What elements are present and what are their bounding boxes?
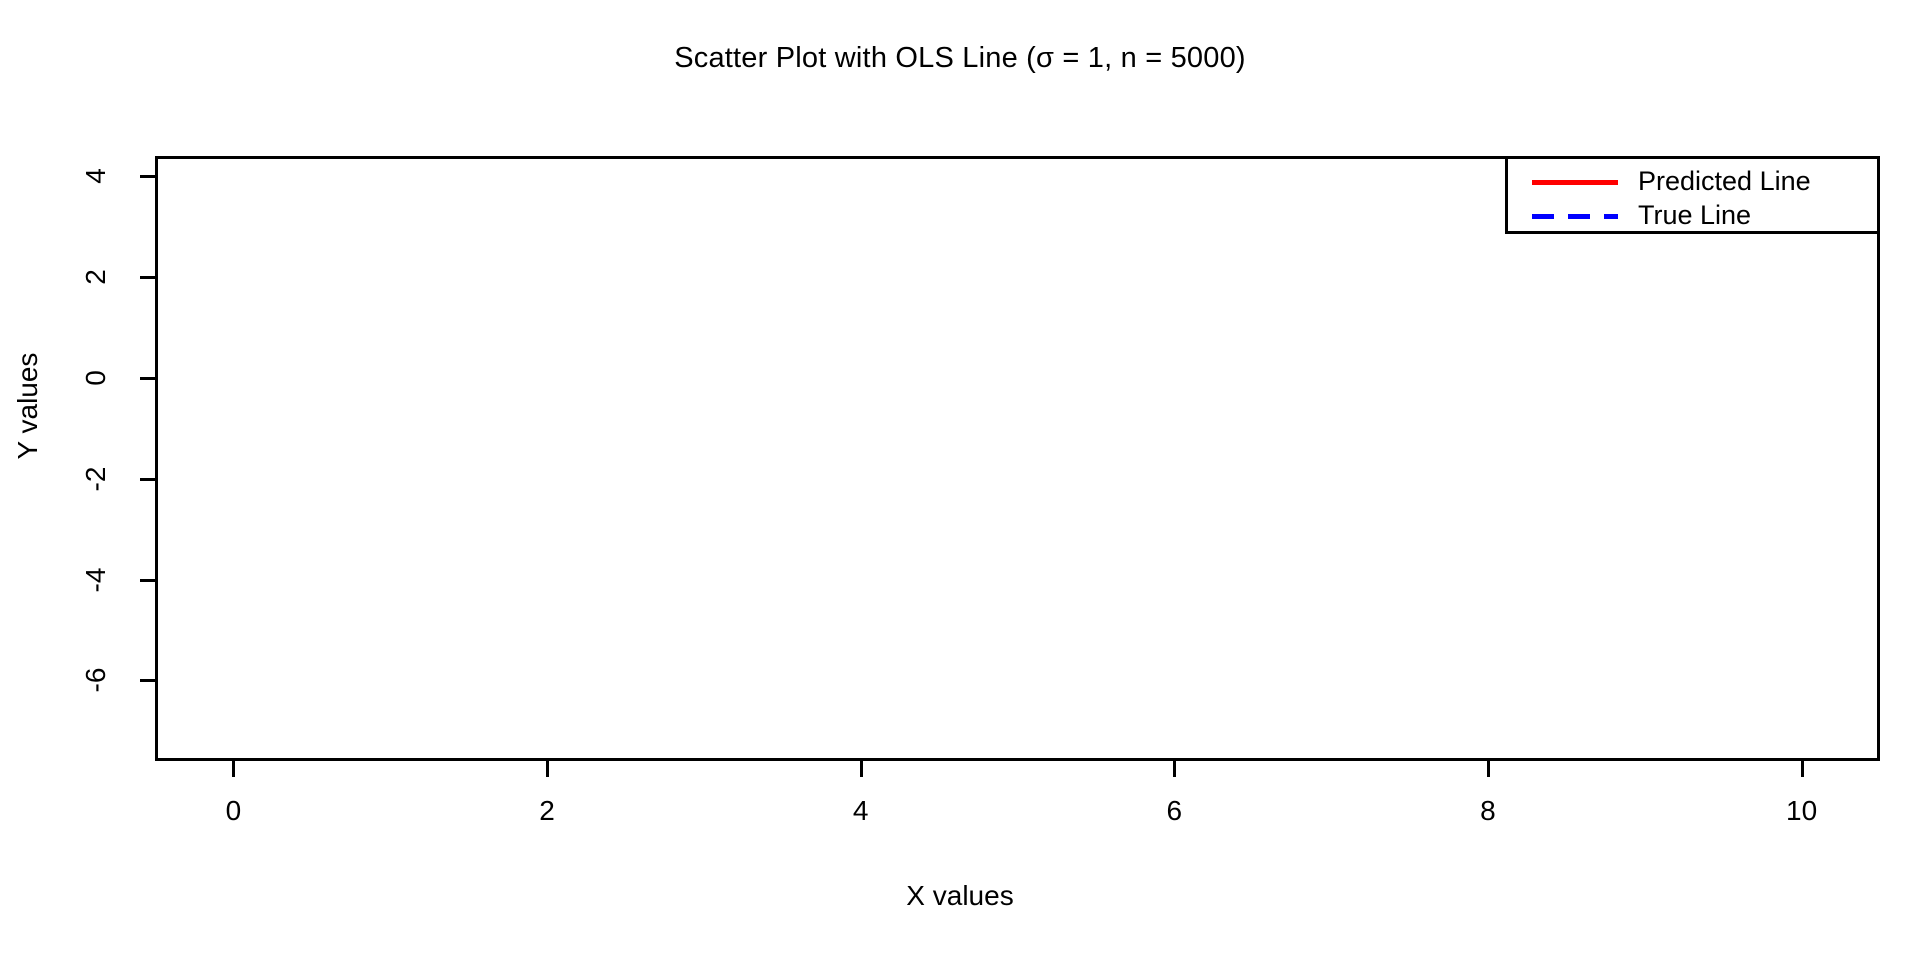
y-tick-label: 0 [80, 357, 112, 399]
legend-line-swatch-dashed-icon [1532, 214, 1618, 219]
x-tick-label: 6 [1134, 795, 1214, 827]
y-tick-mark [140, 579, 155, 582]
x-tick-mark [1487, 761, 1490, 777]
y-tick-mark [140, 175, 155, 178]
y-axis-label: Y values [12, 326, 44, 486]
x-tick-mark [232, 761, 235, 777]
x-tick-mark [1801, 761, 1804, 777]
x-tick-label: 8 [1448, 795, 1528, 827]
chart-title: Scatter Plot with OLS Line (σ = 1, n = 5… [0, 42, 1920, 75]
y-tick-mark [140, 276, 155, 279]
x-tick-label: 10 [1762, 795, 1842, 827]
x-tick-label: 2 [507, 795, 587, 827]
y-tick-mark [140, 478, 155, 481]
y-tick-mark [140, 377, 155, 380]
y-tick-label: -4 [80, 559, 112, 601]
x-tick-label: 4 [821, 795, 901, 827]
x-tick-label: 0 [193, 795, 273, 827]
chart-figure: Scatter Plot with OLS Line (σ = 1, n = 5… [0, 0, 1920, 960]
x-tick-mark [1173, 761, 1176, 777]
y-tick-label: -2 [80, 458, 112, 500]
legend-label: True Line [1638, 199, 1751, 231]
legend-item-predicted-line: Predicted Line [1508, 165, 1877, 199]
y-tick-mark [140, 679, 155, 682]
y-tick-label: -6 [80, 659, 112, 701]
plot-border [155, 156, 1880, 761]
x-axis-label: X values [0, 880, 1920, 912]
y-tick-label: 2 [80, 256, 112, 298]
x-tick-mark [546, 761, 549, 777]
legend-line-swatch-solid-icon [1532, 180, 1618, 185]
y-tick-label: 4 [80, 155, 112, 197]
x-tick-mark [860, 761, 863, 777]
chart-legend: Predicted Line True Line [1505, 156, 1880, 234]
legend-item-true-line: True Line [1508, 199, 1877, 233]
legend-label: Predicted Line [1638, 165, 1811, 197]
